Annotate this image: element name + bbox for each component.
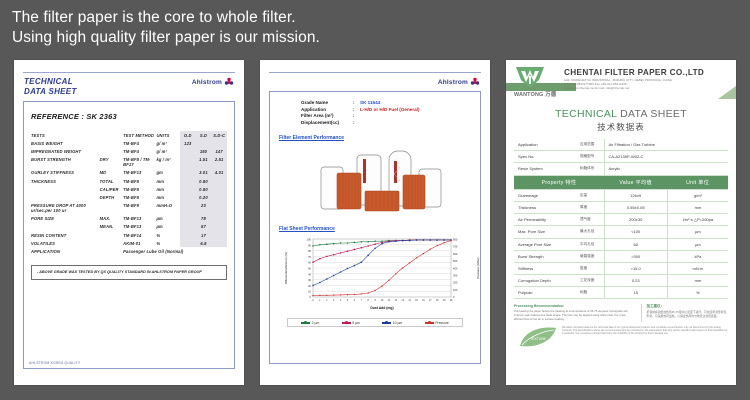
prop-label: Max. Pore Size	[514, 226, 576, 238]
leaf-icon: TEXTURE	[518, 326, 558, 348]
svg-text:1: 1	[319, 300, 321, 302]
cell-units: g/ m²	[156, 139, 180, 147]
table-row: Average Pore Size平均孔径60µm	[514, 238, 728, 250]
chart-legend: 2 µm 5 µm 10 µm Pressure	[287, 318, 463, 327]
processing-en: Processing Recommendation: Pre-heating t…	[514, 304, 635, 321]
svg-text:600: 600	[453, 252, 458, 256]
cell-sub: DRY	[100, 156, 124, 169]
table-row: MEAN.TM-BF13µm57	[31, 223, 227, 231]
table-header-row: Property 特性 Value 平均值 Unit 单位	[514, 175, 728, 189]
svg-text:90: 90	[308, 244, 311, 248]
divider-top	[269, 72, 481, 73]
svg-text:80: 80	[308, 249, 311, 253]
screenshot-root: The filter paper is the core to whole fi…	[0, 0, 750, 400]
cell-test: THICKNESS	[31, 177, 100, 185]
cell-method: TM-BF13	[123, 169, 156, 177]
cell-sub: MD	[100, 169, 124, 177]
field-row: Displacement(cc) :	[301, 120, 471, 127]
prop-unit: mm	[667, 201, 728, 213]
prop-value: 60	[604, 238, 667, 250]
panel3-footer: TEXTURE Remarks: the listed data are the…	[518, 326, 728, 348]
cell-od: 123	[180, 139, 196, 147]
panel1-body: REFERENCE : SK 2363 TESTS TEST METHOD UN…	[23, 101, 235, 369]
prop-label-cn: 定量	[576, 189, 604, 201]
panel3-meta-table: Application 应用范围 Air Filtration / Gas Tu…	[514, 139, 728, 299]
svg-text:19: 19	[443, 300, 446, 302]
cell-od	[180, 215, 196, 223]
cell-method: TM-BF8	[123, 193, 156, 201]
svg-text:70: 70	[308, 255, 311, 259]
col-od: O.D	[180, 131, 196, 139]
cell-sdc	[211, 177, 227, 185]
prop-label-cn: 树脂	[576, 287, 604, 299]
company-address: Add: WUPENGTOU INDUSTRIAL, JINZHOU CITY,…	[564, 78, 672, 90]
cell-units: mm	[156, 185, 180, 193]
cell-sd: 0.80	[196, 185, 212, 193]
field-label: Filter Area (m²)	[301, 113, 353, 120]
panel3-title-en: TECHNICAL DATA SHEET	[506, 108, 736, 120]
cell-od	[180, 185, 196, 193]
cell-test: IMPREGNATED WEIGHT	[31, 147, 100, 155]
cell-sdc	[211, 215, 227, 223]
cell-od	[180, 147, 196, 155]
cell-test: VOLATILES	[31, 239, 100, 247]
panel2-header: Ahlstrom	[267, 77, 483, 87]
cell-od	[180, 156, 196, 169]
cell-sdc	[211, 185, 227, 193]
ahlstrom-flower-icon	[470, 77, 480, 87]
panel-chentai-tds[interactable]: WANTONG 万德 CHENTAI FILTER PAPER CO.,LTD …	[506, 60, 736, 385]
cell-test	[31, 223, 100, 231]
panel1-reference: REFERENCE : SK 2363	[31, 112, 227, 121]
banner-headline: The filter paper is the core to whole fi…	[12, 8, 612, 48]
meta-label: Spec No.	[514, 151, 576, 163]
cell-sdc	[211, 231, 227, 239]
svg-text:9: 9	[374, 300, 376, 302]
cell-method: TM-BF4	[123, 147, 156, 155]
cell-method: Passenger Lube Oil (Normal)	[123, 247, 211, 255]
svg-text:17: 17	[429, 300, 432, 302]
processing-cn: 加工建议： 折叠前将滤纸加热到45-75度中心温度下进行，可改善折叠形状及形状。…	[641, 304, 728, 321]
prop-unit: l/m²·s △P=200pa	[667, 214, 728, 226]
legend-swatch-10um	[382, 322, 391, 324]
cell-method: AKIM-01	[123, 239, 156, 247]
prop-label-cn: 挺度	[576, 262, 604, 274]
wantong-logo-icon	[512, 64, 548, 90]
panel1-header: TECHNICAL DATA SHEET Ahlstrom	[21, 77, 237, 96]
filter-element-photo	[279, 145, 471, 217]
panel1-title: TECHNICAL DATA SHEET	[24, 77, 77, 96]
col-sub	[100, 131, 124, 139]
svg-text:6: 6	[354, 300, 356, 302]
legend-label: 2 µm	[312, 321, 320, 325]
processing-text-en: Pre-heating the paper before the pleatin…	[514, 310, 635, 322]
col-sdc: S.D-C	[211, 131, 227, 139]
table-row: Burst Strength破裂强度>300kPa	[514, 250, 728, 262]
meta-label: Application	[514, 139, 576, 151]
cell-method: TM-BF8	[123, 185, 156, 193]
cell-sub	[100, 139, 124, 147]
prop-unit: g/m²	[667, 189, 728, 201]
prop-label: Thickness	[514, 201, 576, 213]
legend-item: 2 µm	[301, 321, 319, 325]
prop-unit: mm	[667, 275, 728, 287]
wantong-wordmark: WANTONG 万德	[514, 90, 556, 98]
panel-ahlstrom-sk11544[interactable]: Ahlstrom Grade Name :	[260, 60, 490, 385]
cell-sdc	[211, 202, 227, 215]
field-colon: :	[353, 113, 360, 120]
cell-sdc: 4.01	[211, 169, 227, 177]
legend-label: 5 µm	[352, 321, 360, 325]
footer-remarks: Remarks: the listed data are the technic…	[562, 326, 728, 336]
cell-od	[180, 193, 196, 201]
cell-units: mm	[156, 177, 180, 185]
svg-text:20: 20	[450, 300, 453, 302]
cell-units: %	[156, 239, 180, 247]
cell-test: APPLICATION	[31, 247, 100, 255]
cell-units: gm	[156, 169, 180, 177]
table-row: BURST STRENGTHDRYTM-BF8 / TM-BF17kg / m²…	[31, 156, 227, 169]
cell-sdc: 147	[211, 147, 227, 155]
cell-sdc	[211, 239, 227, 247]
cell-units: g/ m²	[156, 147, 180, 155]
cell-sd	[196, 139, 212, 147]
prop-label: Average Pore Size	[514, 238, 576, 250]
prop-label: Stiffness	[514, 262, 576, 274]
table-row: Resin System 树脂体系 Acrylic	[514, 163, 728, 175]
cell-method: TM-BF8	[123, 177, 156, 185]
table-row: Thickness厚度0.55±0.05mm	[514, 201, 728, 213]
prop-value: 126±5	[604, 189, 667, 201]
prop-label: Grammage	[514, 189, 576, 201]
field-row: Grade Name : SK 11544	[301, 100, 471, 107]
cell-method: TM-BF8 / TM-BF17	[123, 156, 156, 169]
prop-value: >300	[604, 250, 667, 262]
divider-top	[23, 72, 235, 73]
svg-text:50: 50	[308, 267, 311, 271]
svg-text:40: 40	[308, 273, 311, 277]
cell-sd: 78	[196, 215, 212, 223]
table-row: Pulpcan树脂15%	[514, 287, 728, 299]
prop-label-cn: 厚度	[576, 201, 604, 213]
ahlstrom-logo: Ahlstrom	[438, 77, 480, 87]
table-row: Stiffness挺度>15.0mN·m	[514, 262, 728, 274]
cell-od	[180, 202, 196, 215]
svg-text:2: 2	[326, 300, 328, 302]
svg-text:100: 100	[307, 238, 312, 242]
cell-sdc	[211, 139, 227, 147]
table-row: DEPTHTM-BF8mm0.20	[31, 193, 227, 201]
prop-label-cn: 平均孔径	[576, 238, 604, 250]
svg-text:700: 700	[453, 245, 458, 249]
table-row: Max. Pore Size最大孔径<100µm	[514, 226, 728, 238]
panel-ahlstrom-sk2363[interactable]: TECHNICAL DATA SHEET Ahlstrom	[14, 60, 244, 385]
table-row: BASIS WEIGHTTM-BF4g/ m²123	[31, 139, 227, 147]
field-colon: :	[353, 120, 360, 127]
meta-value: Air Filtration / Gas Turbine	[604, 139, 728, 151]
cell-units: µm	[156, 215, 180, 223]
svg-text:0: 0	[312, 300, 314, 302]
flat-sheet-chart: 1009080 706050 403020 100 800700600 5004…	[279, 236, 471, 314]
table-row: THICKNESSTOTALTM-BF8mm0.80	[31, 177, 227, 185]
svg-text:800: 800	[453, 238, 458, 242]
cell-test: BURST STRENGTH	[31, 156, 100, 169]
cell-sub: MEAN.	[100, 223, 124, 231]
panel2-body: Grade Name : SK 11544 Application : L-H/…	[269, 91, 481, 364]
prop-unit: µm	[667, 238, 728, 250]
cell-od	[180, 177, 196, 185]
table-row: Grammage定量126±5g/m²	[514, 189, 728, 201]
ahlstrom-flower-icon	[224, 77, 234, 87]
cell-test	[31, 193, 100, 201]
cell-units: kg / m²	[156, 156, 180, 169]
svg-text:3: 3	[333, 300, 335, 302]
svg-text:400: 400	[453, 267, 458, 271]
prop-unit: mN·m	[667, 262, 728, 274]
meta-value: Acrylic	[604, 163, 728, 175]
col-tests: TESTS	[31, 131, 100, 139]
prop-label-cn: 工花深度	[576, 275, 604, 287]
processing-recommendation: Processing Recommendation: Pre-heating t…	[514, 304, 728, 321]
svg-text:4: 4	[340, 300, 342, 302]
panel3-header: WANTONG 万德 CHENTAI FILTER PAPER CO.,LTD …	[506, 60, 736, 104]
svg-text:5: 5	[347, 300, 349, 302]
green-wedge-right	[718, 86, 736, 99]
cell-sub	[100, 202, 124, 215]
col-value: Value 平均值	[604, 175, 667, 189]
field-label: Application	[301, 107, 353, 114]
processing-text-cn: 折叠前将滤纸加热到45-75度中心温度下进行，可改善折叠形状及形状。可采用热风加…	[647, 311, 728, 319]
meta-label-cn: 树脂体系	[576, 163, 604, 175]
banner-line-1: The filter paper is the core to whole fi…	[12, 8, 612, 28]
field-value: L-H/D or H/D Fuel (General)	[360, 107, 419, 114]
cell-sd: 0.80	[196, 177, 212, 185]
cell-method: TM-BF9	[123, 202, 156, 215]
cell-sdc	[211, 193, 227, 201]
svg-text:TEXTURE: TEXTURE	[530, 337, 547, 341]
table-header-row: TESTS TEST METHOD UNITS O.D S.D S.D-C	[31, 131, 227, 139]
processing-title-cn: 加工建议：	[647, 304, 728, 309]
svg-text:Differential Efficiency (%): Differential Efficiency (%)	[284, 252, 288, 284]
prop-value: 200±30	[604, 214, 667, 226]
cell-sub	[100, 147, 124, 155]
document-panels: TECHNICAL DATA SHEET Ahlstrom	[0, 60, 750, 393]
cell-sub: DEPTH	[100, 193, 124, 201]
cell-sd: 23	[196, 202, 212, 215]
svg-text:15: 15	[415, 300, 418, 302]
ahlstrom-wordmark: Ahlstrom	[192, 79, 222, 86]
svg-text:7: 7	[361, 300, 363, 302]
svg-text:60: 60	[308, 261, 311, 265]
table-row: Application 应用范围 Air Filtration / Gas Tu…	[514, 139, 728, 151]
prop-label: Air Permeability	[514, 214, 576, 226]
legend-label: Pressure	[435, 321, 449, 325]
svg-text:500: 500	[453, 259, 458, 263]
cell-test: BASIS WEIGHT	[31, 139, 100, 147]
svg-text:Pressure (mBar): Pressure (mBar)	[476, 258, 480, 279]
table-row: VOLATILESAKIM-01%6.8	[31, 239, 227, 247]
cell-sd: 3.01	[196, 169, 212, 177]
cell-method: TM-BF4	[123, 139, 156, 147]
field-row: Filter Area (m²) :	[301, 113, 471, 120]
svg-text:12: 12	[395, 300, 398, 302]
table-row: PORE SIZEMAX.TM-BF13µm78	[31, 215, 227, 223]
svg-text:0: 0	[453, 295, 455, 299]
section-title-flat-sheet: Flat Sheet Performance	[279, 226, 471, 232]
svg-text:20: 20	[308, 284, 311, 288]
processing-title-en: Processing Recommendation:	[514, 304, 635, 308]
svg-text:0: 0	[310, 295, 312, 299]
title-technical: TECHNICAL	[555, 108, 620, 120]
legend-item: 5 µm	[342, 321, 360, 325]
svg-text:10: 10	[308, 290, 311, 294]
svg-text:100: 100	[453, 288, 458, 292]
meta-label-cn: 应用范围	[576, 139, 604, 151]
svg-text:30: 30	[308, 278, 311, 282]
panel1-title-line1: TECHNICAL	[24, 77, 77, 87]
cell-sd: 17	[196, 231, 212, 239]
svg-text:200: 200	[453, 281, 458, 285]
prop-value: 0.55±0.05	[604, 201, 667, 213]
cell-method: TM-BF13	[123, 215, 156, 223]
col-sd: S.D	[196, 131, 212, 139]
field-label: Displacement(cc)	[301, 120, 353, 127]
table-row: Corrugation Depth工花深度0.23mm	[514, 275, 728, 287]
panel1-spec-table: TESTS TEST METHOD UNITS O.D S.D S.D-C BA…	[31, 131, 227, 256]
prop-label-cn: 破裂强度	[576, 250, 604, 262]
svg-text:16: 16	[422, 300, 425, 302]
legend-item: 10 µm	[382, 321, 402, 325]
cell-units: mm	[156, 193, 180, 201]
meta-label: Resin System	[514, 163, 576, 175]
svg-text:10: 10	[381, 300, 384, 302]
field-label: Grade Name	[301, 100, 353, 107]
title-data-sheet: DATA SHEET	[620, 108, 687, 120]
col-test-method: TEST METHOD	[123, 131, 156, 139]
cell-od	[180, 239, 196, 247]
field-value: SK 11544	[360, 100, 380, 107]
cell-units: mmH₂O	[156, 202, 180, 215]
company-name: CHENTAI FILTER PAPER CO.,LTD	[564, 68, 704, 77]
cell-sdc: 2.51	[211, 156, 227, 169]
section-title-filter-element: Filter Element Performance	[279, 135, 471, 141]
cell-sub	[100, 239, 124, 247]
col-unit: Unit 单位	[667, 175, 728, 189]
cell-sub: TOTAL	[100, 177, 124, 185]
legend-label: 10 µm	[393, 321, 403, 325]
prop-label-cn: 最大孔径	[576, 226, 604, 238]
cell-od	[180, 223, 196, 231]
col-units: UNITS	[156, 131, 180, 139]
prop-unit: %	[667, 287, 728, 299]
table-row: CALIPERTM-BF8mm0.80	[31, 185, 227, 193]
cell-od	[180, 231, 196, 239]
svg-text:18: 18	[436, 300, 439, 302]
cell-test: RESIN CONTENT	[31, 231, 100, 239]
svg-text:11: 11	[388, 300, 391, 302]
svg-text:13: 13	[401, 300, 404, 302]
cell-sub	[100, 231, 124, 239]
cell-sdc	[211, 223, 227, 231]
prop-label: Pulpcan	[514, 287, 576, 299]
prop-value: 15	[604, 287, 667, 299]
cell-units: %	[156, 231, 180, 239]
cell-method: TM-BF13	[123, 223, 156, 231]
ahlstrom-wordmark: Ahlstrom	[438, 79, 468, 86]
svg-text:14: 14	[408, 300, 411, 302]
panel3-title-cn: 技术数据表	[506, 121, 736, 133]
svg-text:300: 300	[453, 274, 458, 278]
cell-test: PORE SIZE	[31, 215, 100, 223]
cell-test	[31, 185, 100, 193]
table-row: IMPREGNATED WEIGHTTM-BF4g/ m²150147	[31, 147, 227, 155]
prop-unit: µm	[667, 226, 728, 238]
legend-swatch-5um	[342, 322, 351, 324]
table-row: GURLEY STIFFNESSMDTM-BF13gm3.014.01	[31, 169, 227, 177]
prop-label: Corrugation Depth	[514, 275, 576, 287]
address-line-3: http://www.chentai.net E-mail: info@chen…	[564, 86, 672, 90]
prop-unit: kPa	[667, 250, 728, 262]
banner-line-2: Using high quality filter paper is our m…	[12, 28, 612, 48]
table-row: Air Permeability透气度200±30l/m²·s △P=200pa	[514, 214, 728, 226]
cell-test: GURLEY STIFFNESS	[31, 169, 100, 177]
prop-value: >15.0	[604, 262, 667, 274]
meta-value: CA-A2135P-W02-C	[604, 151, 728, 163]
meta-label-cn: 规格型号	[576, 151, 604, 163]
cell-sd: 1.51	[196, 156, 212, 169]
cell-method: TM-BF14	[123, 231, 156, 239]
cell-sub: MAX.	[100, 215, 124, 223]
cell-od	[180, 169, 196, 177]
field-colon: :	[353, 107, 360, 114]
panel1-note: - ABOVE GRADE WAS TESTED BY QS QUALITY S…	[31, 265, 227, 281]
table-row: RESIN CONTENTTM-BF14%17	[31, 231, 227, 239]
ahlstrom-logo: Ahlstrom	[192, 77, 234, 87]
prop-value: <100	[604, 226, 667, 238]
legend-item: Pressure	[425, 321, 449, 325]
svg-text:Dust Add (mg): Dust Add (mg)	[370, 306, 393, 310]
cell-units: µm	[156, 223, 180, 231]
table-row: APPLICATIONPassenger Lube Oil (Normal)	[31, 247, 227, 255]
cell-sd: 150	[196, 147, 212, 155]
cell-sd: 57	[196, 223, 212, 231]
prop-label: Burst Strength	[514, 250, 576, 262]
panel1-title-line2: DATA SHEET	[24, 87, 77, 97]
prop-value: 0.23	[604, 275, 667, 287]
cell-test: PRESSURE DROP AT 4000 ur/sec.per 100 ur	[31, 202, 100, 215]
panel1-footer: AHLSTROM KOREA QUALITY	[29, 361, 80, 365]
svg-text:8: 8	[368, 300, 370, 302]
prop-label-cn: 透气度	[576, 214, 604, 226]
cell-sd: 6.8	[196, 239, 212, 247]
table-row: Spec No. 规格型号 CA-A2135P-W02-C	[514, 151, 728, 163]
cell-sd: 0.20	[196, 193, 212, 201]
legend-swatch-2um	[301, 322, 310, 324]
legend-swatch-pressure	[425, 322, 434, 324]
field-row: Application : L-H/D or H/D Fuel (General…	[301, 107, 471, 114]
cell-sub	[100, 247, 124, 255]
col-property: Property 特性	[514, 175, 604, 189]
table-row: PRESSURE DROP AT 4000 ur/sec.per 100 urT…	[31, 202, 227, 215]
cell-sub: CALIPER	[100, 185, 124, 193]
field-colon: :	[353, 100, 360, 107]
